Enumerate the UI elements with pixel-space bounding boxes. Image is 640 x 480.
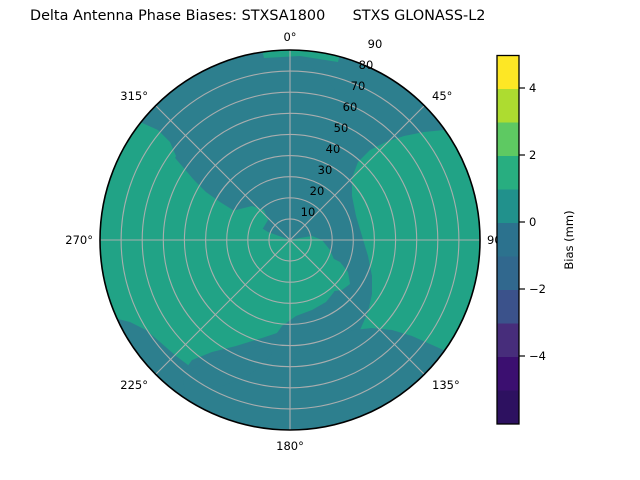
azimuth-label-180: 180° (276, 439, 304, 453)
contour-level-green-ne (352, 130, 486, 358)
azimuth-label-135: 135° (432, 378, 460, 392)
colorbar[interactable]: 4 2 0 −2 −4 Bias (mm) (497, 56, 576, 425)
colorbar-band-6 (497, 156, 519, 190)
colorbar-tick-label-4: 4 (529, 81, 536, 95)
polar-chart-svg: 0° 45° 90° 135° 180° 225° 270° 315° 10 2… (0, 0, 640, 480)
radial-label-10: 10 (301, 205, 316, 219)
radial-label-30: 30 (318, 163, 333, 177)
azimuth-label-45: 45° (432, 89, 452, 103)
colorbar-tick-label-minus2: −2 (529, 282, 546, 296)
radial-label-90: 90 (368, 37, 383, 51)
colorbar-band-4 (497, 223, 519, 257)
colorbar-band-2 (497, 290, 519, 324)
colorbar-ticks (519, 88, 525, 356)
colorbar-band-3 (497, 257, 519, 291)
colorbar-band-5 (497, 190, 519, 224)
radial-label-70: 70 (351, 79, 366, 93)
colorbar-axis-label: Bias (mm) (562, 210, 576, 269)
colorbar-tick-label-0: 0 (529, 215, 536, 229)
radial-label-60: 60 (343, 100, 358, 114)
azimuth-label-270: 270° (65, 233, 93, 247)
colorbar-band-9 (497, 56, 519, 90)
colorbar-band-1 (497, 324, 519, 358)
azimuth-label-315: 315° (120, 89, 148, 103)
radial-label-50: 50 (334, 121, 349, 135)
radial-label-20: 20 (310, 184, 325, 198)
polar-grid (100, 50, 480, 430)
azimuth-label-225: 225° (120, 378, 148, 392)
colorbar-tick-labels: 4 2 0 −2 −4 (529, 81, 546, 363)
contour-level-green-outer-west (70, 100, 99, 400)
colorbar-band-0 (497, 391, 519, 425)
colorbar-band-8 (497, 89, 519, 123)
azimuth-label-0: 0° (283, 30, 296, 44)
colorbar-bands (497, 56, 519, 425)
radial-label-40: 40 (326, 142, 341, 156)
colorbar-tick-label-minus4: −4 (529, 349, 546, 363)
colorbar-tick-label-2: 2 (529, 148, 536, 162)
figure-canvas: Delta Antenna Phase Biases: STXSA1800 ST… (0, 0, 640, 480)
colorbar-band-0b (497, 357, 519, 391)
colorbar-band-7 (497, 123, 519, 157)
radial-label-80: 80 (359, 58, 374, 72)
